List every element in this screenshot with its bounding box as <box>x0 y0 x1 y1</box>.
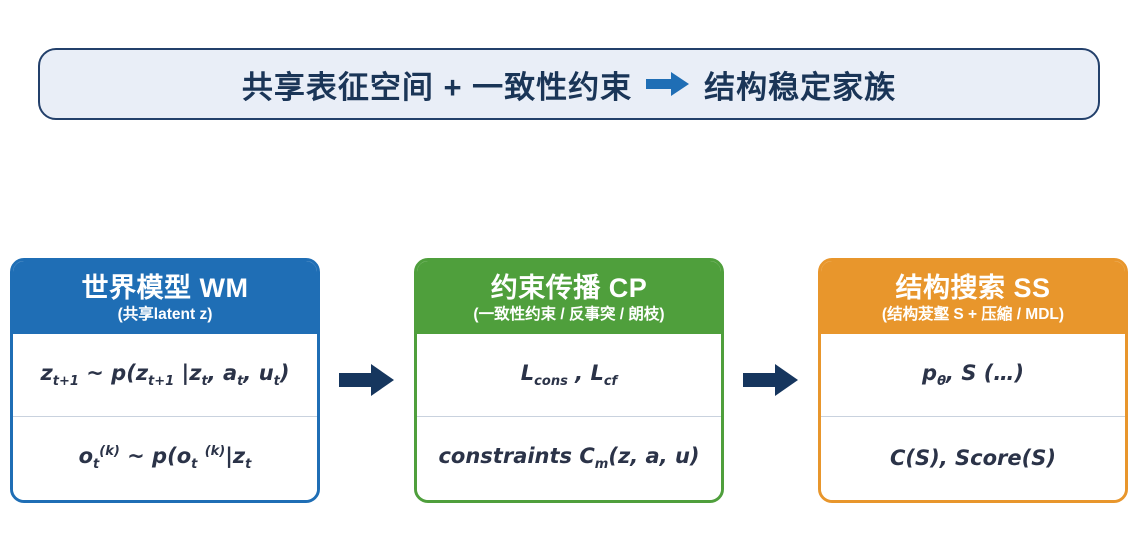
card-structure-search-title: 结构搜索 SS <box>829 273 1117 303</box>
card-world-model[interactable]: 世界模型 WM (共享latent z) zt+1 ~ p(zt+1 |zt, … <box>10 258 320 503</box>
formula-cp-losses: Lcons , Lcf <box>417 334 721 416</box>
right-block-arrow-icon <box>339 363 395 397</box>
header-banner: 共享表征空间 + 一致性约束 结构稳定家族 <box>38 48 1100 120</box>
card-constraint-propagation-header: 约束传播 CP (一致性约束 / 反事突 / 朗枝) <box>417 261 721 334</box>
formula-ss-score: C(S), Score(S) <box>821 416 1125 499</box>
card-world-model-header: 世界模型 WM (共享latent z) <box>13 261 317 334</box>
card-world-model-subtitle: (共享latent z) <box>21 306 309 324</box>
card-structure-search[interactable]: 结构搜索 SS (结构茇壑 S + 压縮 / MDL) pθ, S (…) C(… <box>818 258 1128 503</box>
formula-cp-constraints: constraints Cm(z, a, u) <box>417 416 721 499</box>
card-world-model-title: 世界模型 WM <box>21 273 309 303</box>
formula-ss-params: pθ, S (…) <box>821 334 1125 416</box>
card-constraint-propagation-title: 约束传播 CP <box>425 273 713 303</box>
formula-wm-observation: ot(k) ~ p(ot (k)|zt <box>13 416 317 499</box>
card-constraint-propagation-body: Lcons , Lcf constraints Cm(z, a, u) <box>417 334 721 500</box>
banner-text-left: 共享表征空间 + 一致性约束 <box>242 62 632 107</box>
card-structure-search-body: pθ, S (…) C(S), Score(S) <box>821 334 1125 500</box>
flow-row: 世界模型 WM (共享latent z) zt+1 ~ p(zt+1 |zt, … <box>0 255 1138 505</box>
card-structure-search-header: 结构搜索 SS (结构茇壑 S + 压縮 / MDL) <box>821 261 1125 334</box>
right-block-arrow-icon <box>743 363 799 397</box>
connector-wm-to-cp <box>320 363 414 397</box>
connector-cp-to-ss <box>724 363 818 397</box>
right-arrow-icon <box>646 71 690 97</box>
card-structure-search-subtitle: (结构茇壑 S + 压縮 / MDL) <box>829 306 1117 324</box>
card-constraint-propagation-subtitle: (一致性约束 / 反事突 / 朗枝) <box>425 306 713 324</box>
card-world-model-body: zt+1 ~ p(zt+1 |zt, at, ut) ot(k) ~ p(ot … <box>13 334 317 500</box>
banner-text-right: 结构稳定家族 <box>704 62 896 107</box>
formula-wm-transition: zt+1 ~ p(zt+1 |zt, at, ut) <box>13 334 317 416</box>
card-constraint-propagation[interactable]: 约束传播 CP (一致性约束 / 反事突 / 朗枝) Lcons , Lcf c… <box>414 258 724 503</box>
